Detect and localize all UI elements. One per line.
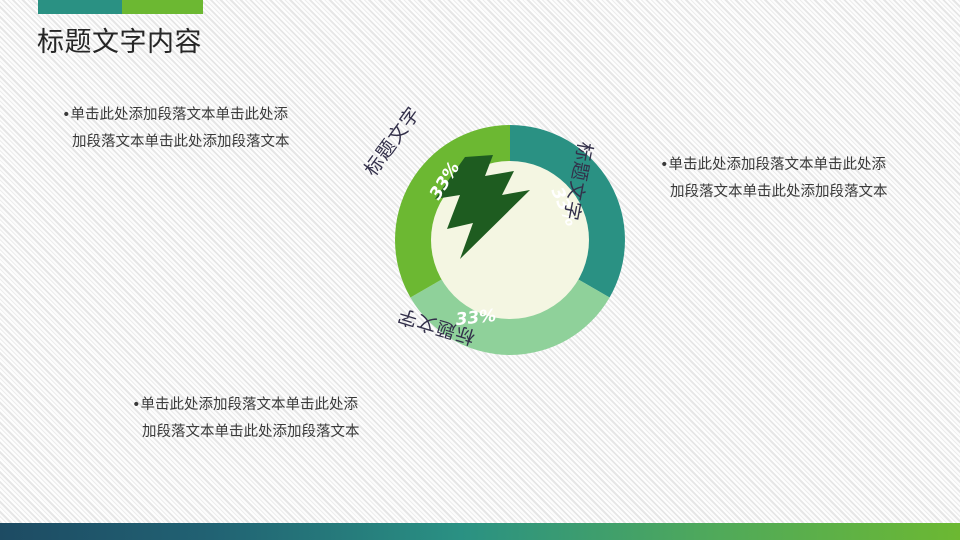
- slide-canvas: 标题文字内容 •单击此处添加段落文本单击此处添 加段落文本单击此处添加段落文本 …: [0, 0, 960, 540]
- paragraph-right-line2: 加段落文本单击此处添加段落文本: [660, 179, 930, 206]
- paragraph-left-line2: 加段落文本单击此处添加段落文本: [62, 129, 332, 156]
- paragraph-left-line1: •单击此处添加段落文本单击此处添: [62, 102, 332, 129]
- paragraph-bottom-line2: 加段落文本单击此处添加段落文本: [132, 419, 402, 446]
- accent-bar-teal: [38, 0, 122, 14]
- paragraph-right: •单击此处添加段落文本单击此处添 加段落文本单击此处添加段落文本: [660, 152, 930, 206]
- footer-gradient-bar: [0, 523, 960, 540]
- paragraph-bottom: •单击此处添加段落文本单击此处添 加段落文本单击此处添加段落文本: [132, 392, 402, 446]
- paragraph-right-line1: •单击此处添加段落文本单击此处添: [660, 152, 930, 179]
- page-title: 标题文字内容: [37, 24, 202, 62]
- accent-bar-green: [122, 0, 203, 14]
- paragraph-left: •单击此处添加段落文本单击此处添 加段落文本单击此处添加段落文本: [62, 102, 332, 156]
- paragraph-bottom-line1: •单击此处添加段落文本单击此处添: [132, 392, 402, 419]
